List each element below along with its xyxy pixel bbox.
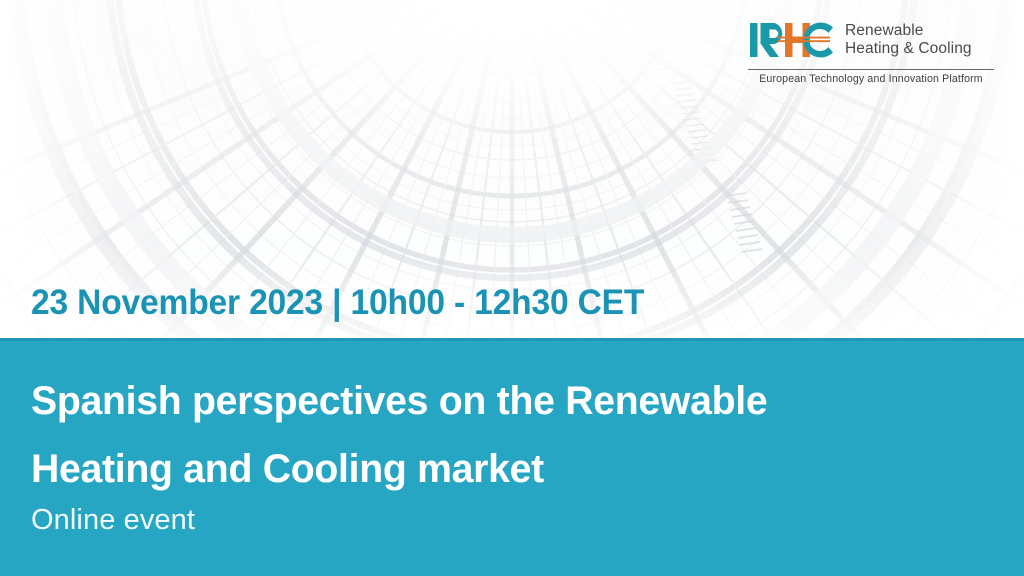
irhc-logo[interactable]: Renewable Heating & Cooling European Tec…	[748, 16, 994, 85]
event-title-line1: Spanish perspectives on the Renewable	[31, 367, 952, 435]
logo-word-line2: Heating & Cooling	[845, 40, 972, 58]
logo-wordmark: Renewable Heating & Cooling	[845, 22, 972, 59]
event-title: Spanish perspectives on the Renewable He…	[31, 367, 971, 503]
event-title-line2: Heating and Cooling market	[31, 435, 952, 503]
logo-divider	[748, 69, 994, 70]
event-banner: Renewable Heating & Cooling European Tec…	[0, 0, 1024, 576]
logo-tagline: European Technology and Innovation Platf…	[748, 73, 994, 85]
event-format: Online event	[31, 504, 195, 537]
logo-word-line1: Renewable	[845, 22, 972, 40]
logo-top-row: Renewable Heating & Cooling	[748, 16, 994, 64]
event-date-time: 23 November 2023 | 10h00 - 12h30 CET	[31, 283, 644, 323]
irhc-monogram-icon	[748, 16, 836, 64]
teal-title-band: Spanish perspectives on the Renewable He…	[0, 338, 1024, 576]
